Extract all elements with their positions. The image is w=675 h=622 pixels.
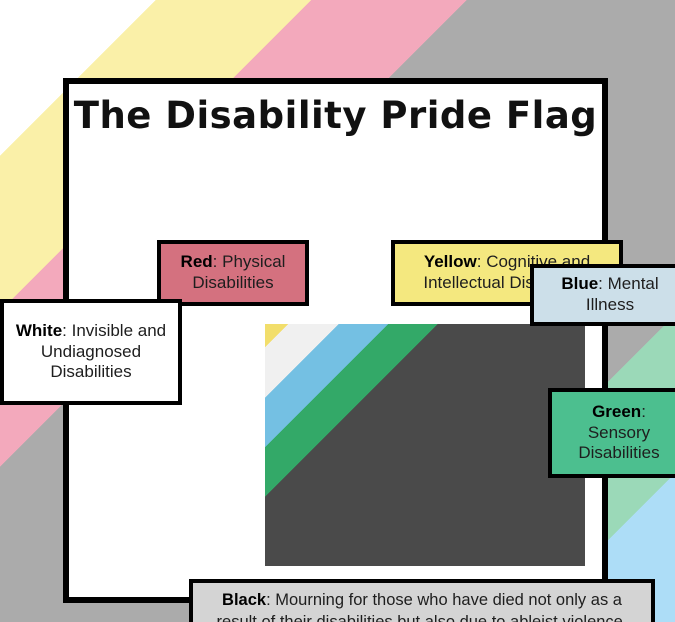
callout-green: Green: Sensory Disabilities xyxy=(548,388,675,478)
callout-black: Black: Mourning for those who have died … xyxy=(189,579,655,622)
callout-black-meaning: Mourning for those who have died not onl… xyxy=(217,591,628,622)
callout-white: White: Invisible and Undiagnosed Disabil… xyxy=(0,299,182,405)
callout-blue-text: Blue: Mental Illness xyxy=(542,274,675,315)
callout-red-separator: : xyxy=(213,252,222,271)
callout-white-color-name: White xyxy=(16,321,62,340)
callout-black-text: Black: Mourning for those who have died … xyxy=(201,590,643,622)
poster-canvas: The Disability Pride Flag Red: Physical … xyxy=(0,0,675,622)
callout-yellow-color-name: Yellow xyxy=(424,252,477,271)
callout-white-text: White: Invisible and Undiagnosed Disabil… xyxy=(12,321,170,383)
callout-red: Red: Physical Disabilities xyxy=(157,240,309,306)
callout-red-color-name: Red xyxy=(181,252,213,271)
callout-green-meaning: Sensory Disabilities xyxy=(578,423,659,463)
disability-pride-flag-image xyxy=(265,324,585,566)
callout-green-color-name: Green xyxy=(592,402,641,421)
flag-stripes xyxy=(265,324,585,566)
callout-blue: Blue: Mental Illness xyxy=(530,264,675,326)
callout-green-text: Green: Sensory Disabilities xyxy=(560,402,675,464)
callout-blue-separator: : xyxy=(598,274,607,293)
callout-green-separator: : xyxy=(641,402,646,421)
callout-white-separator: : xyxy=(62,321,71,340)
callout-yellow-separator: : xyxy=(477,252,486,271)
page-title: The Disability Pride Flag xyxy=(69,94,602,137)
callout-red-text: Red: Physical Disabilities xyxy=(169,252,297,293)
callout-black-separator: : xyxy=(266,591,275,609)
callout-black-color-name: Black xyxy=(222,591,266,609)
callout-blue-color-name: Blue xyxy=(561,274,598,293)
